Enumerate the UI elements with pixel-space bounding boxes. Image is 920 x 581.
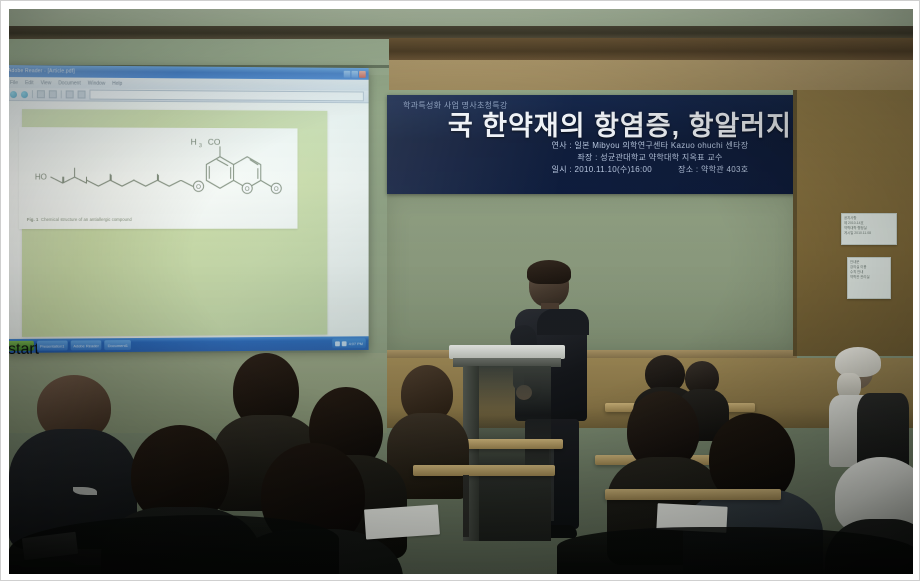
notice-line: 게시일 2010.11.08 bbox=[844, 231, 894, 236]
paper-sheet bbox=[364, 504, 440, 539]
window-controls[interactable] bbox=[344, 70, 366, 77]
ceiling-strip bbox=[9, 9, 913, 27]
maximize-icon[interactable] bbox=[351, 70, 358, 77]
zoom-out-icon[interactable] bbox=[66, 90, 74, 98]
svg-text:3: 3 bbox=[199, 143, 202, 149]
svg-text:H: H bbox=[191, 137, 197, 147]
print-icon[interactable] bbox=[21, 91, 28, 98]
svg-text:HO: HO bbox=[35, 173, 47, 182]
figure-caption-text: Chemical structure of an antiallergic co… bbox=[41, 217, 132, 222]
banner-place: 장소 : 약학관 403호 bbox=[678, 165, 748, 174]
elderly-white-hair bbox=[835, 347, 881, 377]
photo-frame: 학과특성화 사업 명사초청특강 국 한약재의 항염증, 항알러지 성분 연사 :… bbox=[0, 0, 920, 581]
figure-caption: Fig. 1 Chemical structure of an antialle… bbox=[27, 217, 132, 222]
next-page-icon[interactable] bbox=[49, 90, 57, 98]
banner-datetime: 일시 : 2010.11.10(수)16:00 bbox=[552, 165, 652, 174]
toolbar-separator bbox=[61, 90, 62, 98]
previous-page-icon[interactable] bbox=[37, 90, 45, 98]
wood-band bbox=[389, 60, 913, 90]
presenter-shoulder bbox=[537, 309, 589, 335]
wall-notice-lower: 안내문 강의실 이용 수칙 안내 약학관 관리실 bbox=[847, 257, 891, 299]
notice-line: 약학관 관리실 bbox=[850, 275, 888, 280]
desk-leg bbox=[463, 475, 469, 537]
figure-caption-prefix: Fig. 1 bbox=[27, 217, 38, 222]
figure-card: O O O HO H 3 CO Fig. 1 Chemical structur… bbox=[19, 127, 298, 229]
menu-help[interactable]: Help bbox=[112, 80, 122, 86]
zoom-in-icon[interactable] bbox=[78, 91, 86, 99]
projection-screen: Adobe Reader - [Article.pdf] File Edit V… bbox=[9, 65, 369, 353]
menu-view[interactable]: View bbox=[41, 80, 52, 86]
screen-surface: Adobe Reader - [Article.pdf] File Edit V… bbox=[9, 65, 369, 353]
svg-text:O: O bbox=[196, 184, 201, 191]
svg-text:O: O bbox=[245, 186, 250, 193]
seated-audience bbox=[9, 339, 913, 574]
minimize-icon[interactable] bbox=[344, 70, 351, 77]
svg-text:O: O bbox=[274, 186, 279, 193]
menu-window[interactable]: Window bbox=[88, 80, 106, 86]
photograph: 학과특성화 사업 명사초청특강 국 한약재의 항염증, 항알러지 성분 연사 :… bbox=[9, 9, 913, 574]
chemical-structure-svg: O O O HO H 3 CO bbox=[23, 130, 294, 204]
foreground-silhouette bbox=[557, 527, 913, 574]
svg-text:CO: CO bbox=[208, 137, 221, 147]
menu-edit[interactable]: Edit bbox=[25, 80, 34, 86]
menu-document[interactable]: Document bbox=[58, 80, 81, 86]
chemical-structure-figure: O O O HO H 3 CO bbox=[23, 130, 294, 204]
close-icon[interactable] bbox=[359, 70, 366, 77]
wood-moulding-top bbox=[389, 38, 913, 60]
open-file-icon[interactable] bbox=[10, 91, 17, 98]
desk bbox=[413, 465, 555, 476]
search-input[interactable] bbox=[89, 90, 363, 102]
desk bbox=[605, 489, 781, 500]
presenter-hair bbox=[527, 260, 571, 284]
menu-file[interactable]: File bbox=[10, 80, 18, 86]
wall-notice-upper: 공지사항 제 2010-14호 약학대학 행정실 게시일 2010.11.08 bbox=[841, 213, 897, 245]
window-title: Adobe Reader - [Article.pdf] bbox=[9, 68, 75, 75]
toolbar-separator bbox=[32, 90, 33, 98]
